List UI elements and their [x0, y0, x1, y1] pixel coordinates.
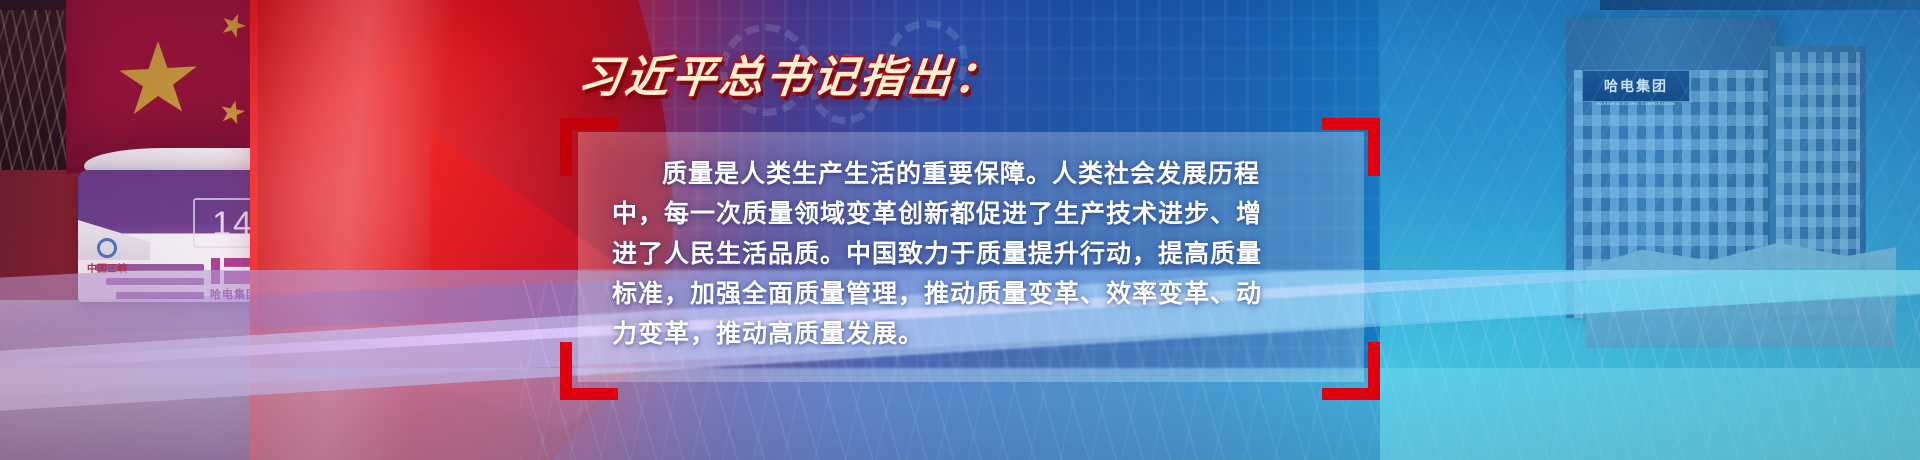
quote-text: 质量是人类生产生活的重要保障。人类社会发展历程 中，每一次质量领域变革创新都促进… — [612, 154, 1312, 354]
quote-line: 进了人民生活品质。中国致力于质量提升行动，提高质量 — [612, 234, 1312, 274]
quote-line: 力变革，推动高质量发展。 — [612, 314, 1312, 354]
flag-star-large — [118, 39, 198, 121]
corner-bracket-bottom-left — [560, 342, 618, 400]
corner-bracket-top-right — [1322, 118, 1380, 176]
quote-line: 中，每一次质量领域变革创新都促进了生产技术进步、增 — [612, 194, 1312, 234]
quote-block: 质量是人类生产生活的重要保障。人类社会发展历程 中，每一次质量领域变革创新都促进… — [560, 118, 1380, 400]
quote-line: 标准，加强全面质量管理，推动质量变革、效率变革、动 — [612, 274, 1312, 314]
promo-banner: 14 哈电集团 HARBIN ELECTRIC CORPORATION — [0, 0, 1920, 460]
page-title: 习近平总书记指出： — [575, 52, 1003, 104]
top-edge-strip — [1600, 0, 1920, 10]
corner-bracket-top-left — [560, 118, 618, 176]
quote-line: 质量是人类生产生活的重要保障。人类社会发展历程 — [612, 154, 1312, 194]
corner-bracket-bottom-right — [1322, 342, 1380, 400]
flag-star-1 — [217, 10, 250, 42]
flag-star-4 — [217, 98, 247, 127]
circle-logo-icon — [97, 238, 117, 258]
